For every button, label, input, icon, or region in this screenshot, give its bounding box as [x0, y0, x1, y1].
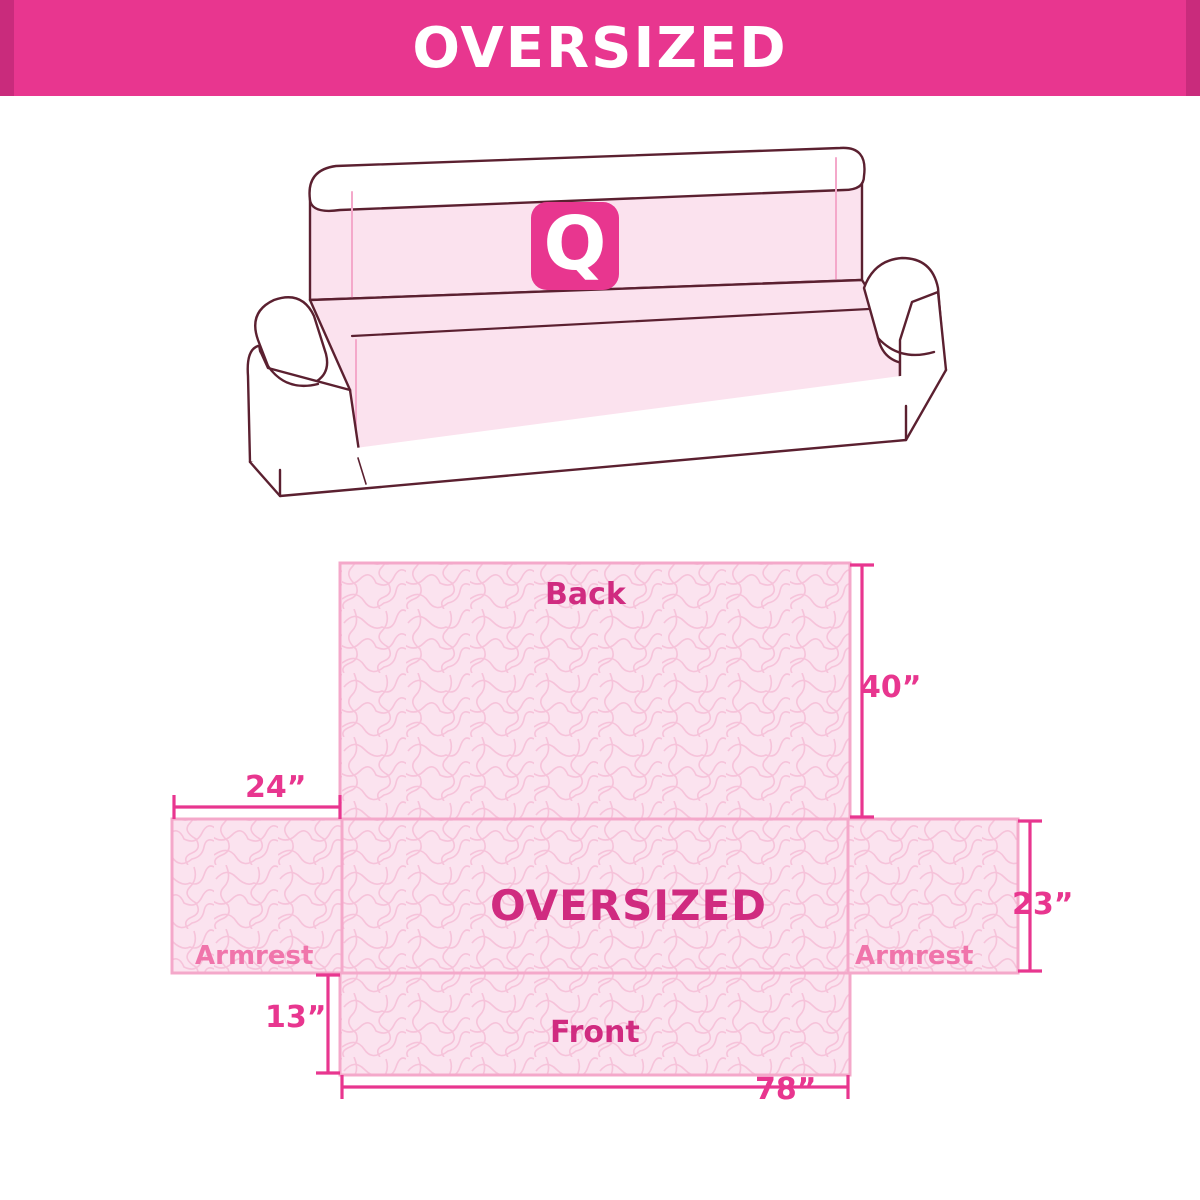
brand-badge: Q [531, 202, 619, 290]
sofa-illustration: Q [240, 140, 980, 520]
label-front: Front [550, 1015, 640, 1050]
header-right-strip [1186, 0, 1200, 96]
label-center-size: OVERSIZED [490, 881, 767, 930]
brand-letter: Q [544, 207, 607, 281]
layout-diagram: Back Front Armrest Armrest OVERSIZED 40”… [150, 545, 1070, 1125]
dimension-armrest-right-height: 23” [1012, 887, 1073, 922]
label-armrest-right: Armrest [855, 941, 973, 971]
dimension-front-width: 78” [755, 1072, 816, 1107]
dimension-armrest-left-width: 24” [245, 770, 306, 805]
page-title: OVERSIZED [412, 16, 787, 81]
dimension-front-height: 13” [265, 1000, 326, 1035]
dimension-back-height: 40” [860, 670, 921, 705]
label-armrest-left: Armrest [195, 941, 313, 971]
label-back: Back [545, 577, 626, 612]
sofa-drawing [240, 140, 980, 520]
header-banner: OVERSIZED [0, 0, 1200, 96]
cover-body [172, 563, 1018, 1075]
header-left-strip [0, 0, 14, 96]
